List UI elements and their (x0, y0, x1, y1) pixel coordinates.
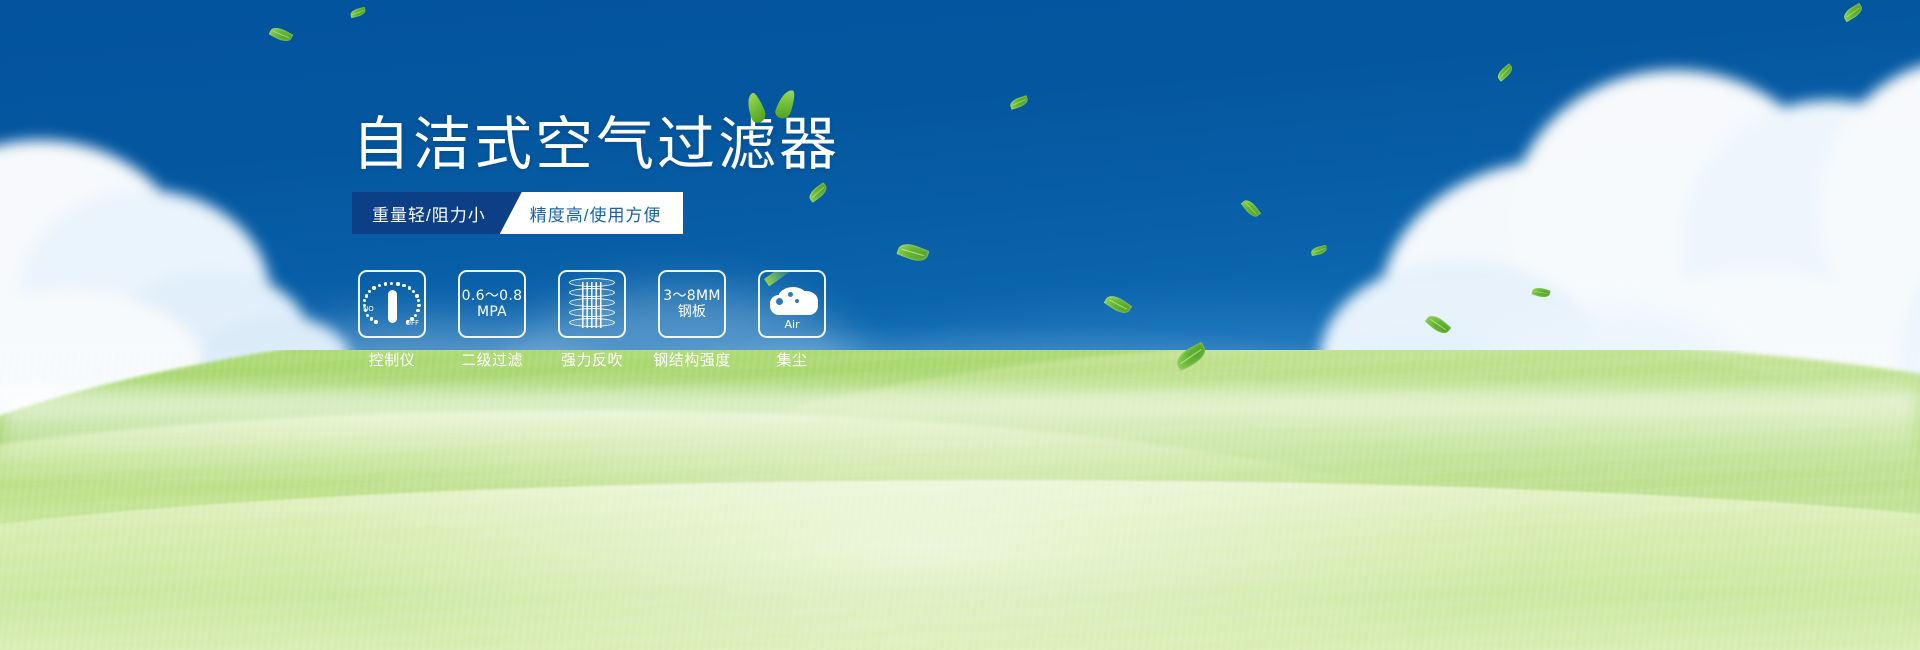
feature-tag-weight[interactable]: 重量轻/阻力小 (352, 192, 522, 234)
spec-badge-box: 0.6～0.8 MPA (458, 270, 526, 338)
spec-value-line2: MPA (462, 304, 523, 320)
spec-badge-steel[interactable]: 3～8MM 钢板 钢结构强度 (656, 270, 728, 370)
spec-badge-dust[interactable]: Air 集尘 (756, 270, 828, 370)
gauge-label-no: NO (363, 305, 374, 313)
spec-value-line1: 3～8MM (663, 288, 720, 304)
banner-content: 自洁式空气过滤器 重量轻/阻力小 精度高/使用方便 (0, 0, 1920, 650)
spec-badge-value: 3～8MM 钢板 (663, 288, 720, 320)
gauge-label-off: OFF (405, 319, 419, 327)
spec-badge-box (558, 270, 626, 338)
spec-badge-controller[interactable]: NO OFF 控制仪 (356, 270, 428, 370)
title-block: 自洁式空气过滤器 (352, 115, 840, 173)
spec-badge-filtration[interactable]: 0.6～0.8 MPA 二级过滤 (456, 270, 528, 370)
spec-badge-value: 0.6～0.8 MPA (462, 288, 523, 320)
page-title: 自洁式空气过滤器 (352, 115, 840, 173)
dust-cloud-icon: Air (764, 279, 820, 329)
spec-value-line2: 钢板 (663, 304, 720, 320)
air-label: Air (764, 318, 820, 331)
spec-badge-box: 3～8MM 钢板 (658, 270, 726, 338)
feature-tag-precision[interactable]: 精度高/使用方便 (500, 192, 684, 234)
spec-badge-box: Air (758, 270, 826, 338)
spec-badge-label: 控制仪 (369, 349, 416, 370)
spec-badge-group: NO OFF 控制仪 0.6～0.8 MPA 二级过滤 (356, 270, 828, 370)
gauge-icon: NO OFF (363, 277, 421, 331)
title-sprout-leaves-icon (746, 89, 806, 123)
spec-badge-label: 钢结构强度 (653, 349, 731, 370)
spec-badge-label: 集尘 (776, 349, 807, 370)
spec-badge-label: 二级过滤 (461, 349, 523, 370)
spec-badge-label: 强力反吹 (561, 349, 623, 370)
feature-tag-group: 重量轻/阻力小 精度高/使用方便 (352, 192, 683, 234)
product-banner: 自洁式空气过滤器 重量轻/阻力小 精度高/使用方便 (0, 0, 1920, 650)
filter-cartridge-icon (569, 278, 615, 330)
spec-badge-box: NO OFF (358, 270, 426, 338)
spec-badge-blowback[interactable]: 强力反吹 (556, 270, 628, 370)
spec-value-line1: 0.6～0.8 (462, 288, 523, 304)
